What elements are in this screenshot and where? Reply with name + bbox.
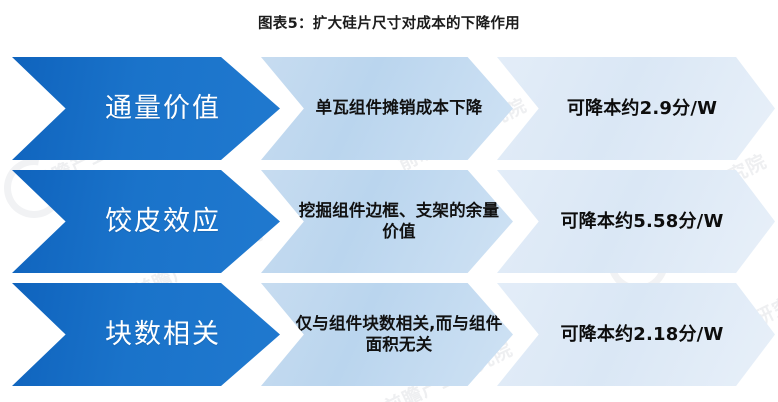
saving-chevron[interactable]: 可降本约2.9分/W [497, 57, 775, 160]
stage-chevron[interactable]: 通量价值 [12, 57, 280, 160]
flow-diagram: 通量价值 单瓦组件摊销成本下降 可降本约2.9分/W 饺皮效应 挖掘组件边框、支… [0, 57, 778, 396]
stage-label: 通量价值 [105, 93, 221, 124]
description-chevron[interactable]: 仅与组件块数相关,而与组件面积无关 [261, 283, 513, 386]
stage-label: 块数相关 [105, 319, 221, 350]
saving-label: 可降本约5.58分/W [560, 211, 723, 233]
description-chevron[interactable]: 挖掘组件边框、支架的余量价值 [261, 170, 513, 273]
saving-label: 可降本约2.9分/W [567, 98, 717, 120]
saving-label: 可降本约2.18分/W [560, 324, 723, 346]
flow-row: 通量价值 单瓦组件摊销成本下降 可降本约2.9分/W [0, 57, 778, 160]
description-chevron[interactable]: 单瓦组件摊销成本下降 [261, 57, 513, 160]
description-label: 仅与组件块数相关,而与组件面积无关 [291, 314, 507, 354]
flow-row: 块数相关 仅与组件块数相关,而与组件面积无关 可降本约2.18分/W [0, 283, 778, 386]
stage-label: 饺皮效应 [105, 206, 221, 237]
flow-row: 饺皮效应 挖掘组件边框、支架的余量价值 可降本约5.58分/W [0, 170, 778, 273]
saving-chevron[interactable]: 可降本约2.18分/W [497, 283, 775, 386]
description-label: 单瓦组件摊销成本下降 [316, 98, 483, 118]
saving-chevron[interactable]: 可降本约5.58分/W [497, 170, 775, 273]
page-title: 图表5：扩大硅片尺寸对成本的下降作用 [0, 12, 778, 33]
stage-chevron[interactable]: 块数相关 [12, 283, 280, 386]
stage-chevron[interactable]: 饺皮效应 [12, 170, 280, 273]
description-label: 挖掘组件边框、支架的余量价值 [291, 201, 507, 241]
